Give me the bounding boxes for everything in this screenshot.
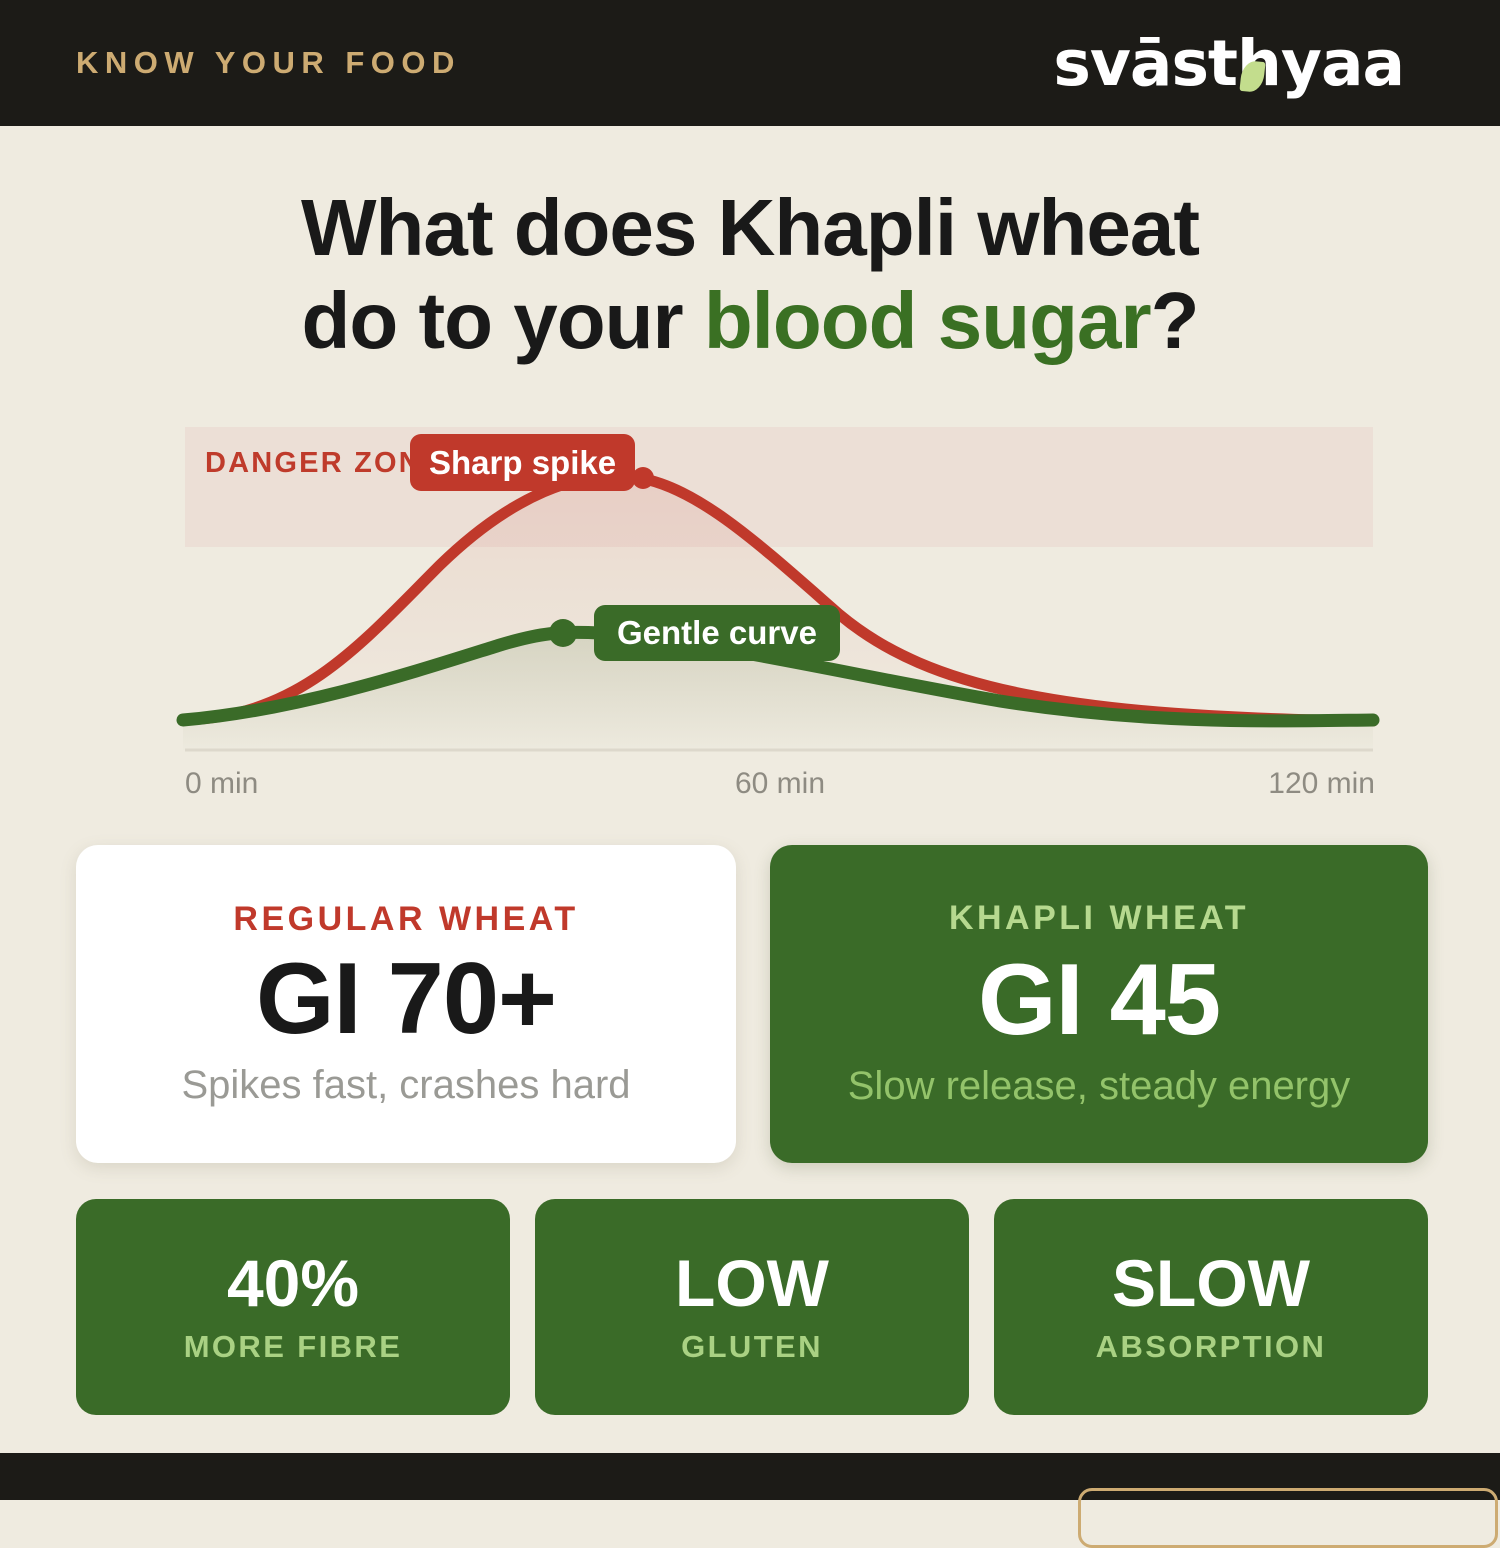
stat-label: ABSORPTION <box>1096 1329 1327 1365</box>
headline-line-2-suffix: ? <box>1151 276 1199 365</box>
annotation-sharp-spike: Sharp spike <box>410 434 635 491</box>
comparison-cards: REGULAR WHEAT GI 70+ Spikes fast, crashe… <box>76 845 1428 1165</box>
stat-box-gluten: LOW GLUTEN <box>535 1199 969 1415</box>
footer-cta-button[interactable] <box>1078 1488 1498 1548</box>
card-khapli-eyebrow: KHAPLI WHEAT <box>949 899 1249 938</box>
stat-label: MORE FIBRE <box>184 1329 403 1365</box>
card-khapli-gi-value: GI 45 <box>978 946 1220 1055</box>
stat-box-absorption: SLOW ABSORPTION <box>994 1199 1428 1415</box>
regular-wheat-marker <box>632 467 654 489</box>
header-kicker: KNOW YOUR FOOD <box>76 45 461 81</box>
x-tick-120: 120 min <box>1268 767 1375 801</box>
headline-accent: blood sugar <box>704 276 1151 365</box>
stat-value: LOW <box>675 1249 829 1318</box>
headline-line-2-prefix: do to your <box>302 276 704 365</box>
stat-box-fibre: 40% MORE FIBRE <box>76 1199 510 1415</box>
card-regular-subtitle: Spikes fast, crashes hard <box>181 1063 630 1108</box>
stat-label: GLUTEN <box>681 1329 823 1365</box>
page-footer <box>0 1453 1500 1500</box>
page-header: KNOW YOUR FOOD svāsthyaa <box>0 0 1500 126</box>
page-title: What does Khapli wheat do to your blood … <box>0 182 1500 368</box>
x-tick-0: 0 min <box>185 767 258 801</box>
x-axis-labels: 0 min 60 min 120 min <box>185 767 1375 807</box>
card-khapli-subtitle: Slow release, steady energy <box>848 1064 1351 1109</box>
card-khapli-wheat: KHAPLI WHEAT GI 45 Slow release, steady … <box>770 845 1428 1163</box>
stat-boxes: 40% MORE FIBRE LOW GLUTEN SLOW ABSORPTIO… <box>76 1199 1428 1415</box>
khapli-wheat-marker <box>549 619 577 647</box>
brand-logo[interactable]: svāsthyaa <box>1104 28 1404 98</box>
card-regular-eyebrow: REGULAR WHEAT <box>233 900 578 939</box>
card-regular-gi-value: GI 70+ <box>256 945 556 1054</box>
stat-value: 40% <box>227 1249 359 1318</box>
x-tick-60: 60 min <box>735 767 825 801</box>
brand-wordmark: svāsthyaa <box>1053 32 1404 95</box>
stat-value: SLOW <box>1112 1249 1310 1318</box>
blood-sugar-chart: DANGER ZONE Sharp spike Gentle curve <box>0 405 1500 805</box>
card-regular-wheat: REGULAR WHEAT GI 70+ Spikes fast, crashe… <box>76 845 736 1163</box>
annotation-gentle-curve: Gentle curve <box>594 605 840 661</box>
headline-line-1: What does Khapli wheat <box>301 183 1199 272</box>
